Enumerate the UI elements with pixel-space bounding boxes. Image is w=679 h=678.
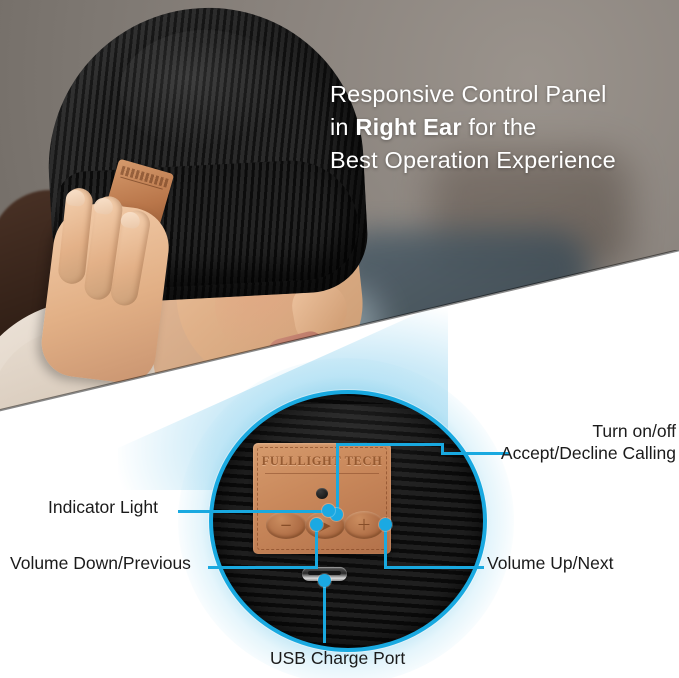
control-patch: FULLLIGHT TECH − ▶ ＋ <box>253 443 391 554</box>
leader-dot-volume-down <box>310 518 323 531</box>
leader-dot-volume-up <box>379 518 392 531</box>
leader-usb-vertical <box>323 578 326 643</box>
callout-turn-on-off: Turn on/off Accept/Decline Calling <box>404 420 676 464</box>
callout-turn-on-off-line1: Turn on/off <box>404 420 676 442</box>
patch-divider-rule <box>265 473 379 474</box>
leader-voldown-horizontal <box>208 566 318 569</box>
leader-indicator-horizontal <box>178 510 331 513</box>
patch-brand-label: FULLLIGHT TECH <box>253 454 391 469</box>
plus-icon: ＋ <box>356 518 371 533</box>
volume-up-button[interactable]: ＋ <box>344 511 384 539</box>
callout-volume-up-next: Volume Up/Next <box>487 553 613 574</box>
leader-volup-horizontal <box>384 566 484 569</box>
leader-turnonoff-vertical <box>336 443 339 514</box>
control-panel-diagram: FULLLIGHT TECH − ▶ ＋ Turn on/off <box>0 0 679 678</box>
minus-icon: − <box>280 518 293 533</box>
callout-volume-down-previous: Volume Down/Previous <box>10 553 191 574</box>
leader-dot-indicator-light <box>322 504 335 517</box>
indicator-light-led[interactable] <box>316 488 328 499</box>
leader-dot-usb-port <box>318 574 331 587</box>
callout-turn-on-off-line2: Accept/Decline Calling <box>404 442 676 464</box>
product-infographic: Responsive Control Panel in Right Ear fo… <box>0 0 679 678</box>
callout-usb-charge-port: USB Charge Port <box>270 648 405 669</box>
callout-indicator-light: Indicator Light <box>48 497 158 518</box>
volume-down-button[interactable]: − <box>266 511 306 539</box>
